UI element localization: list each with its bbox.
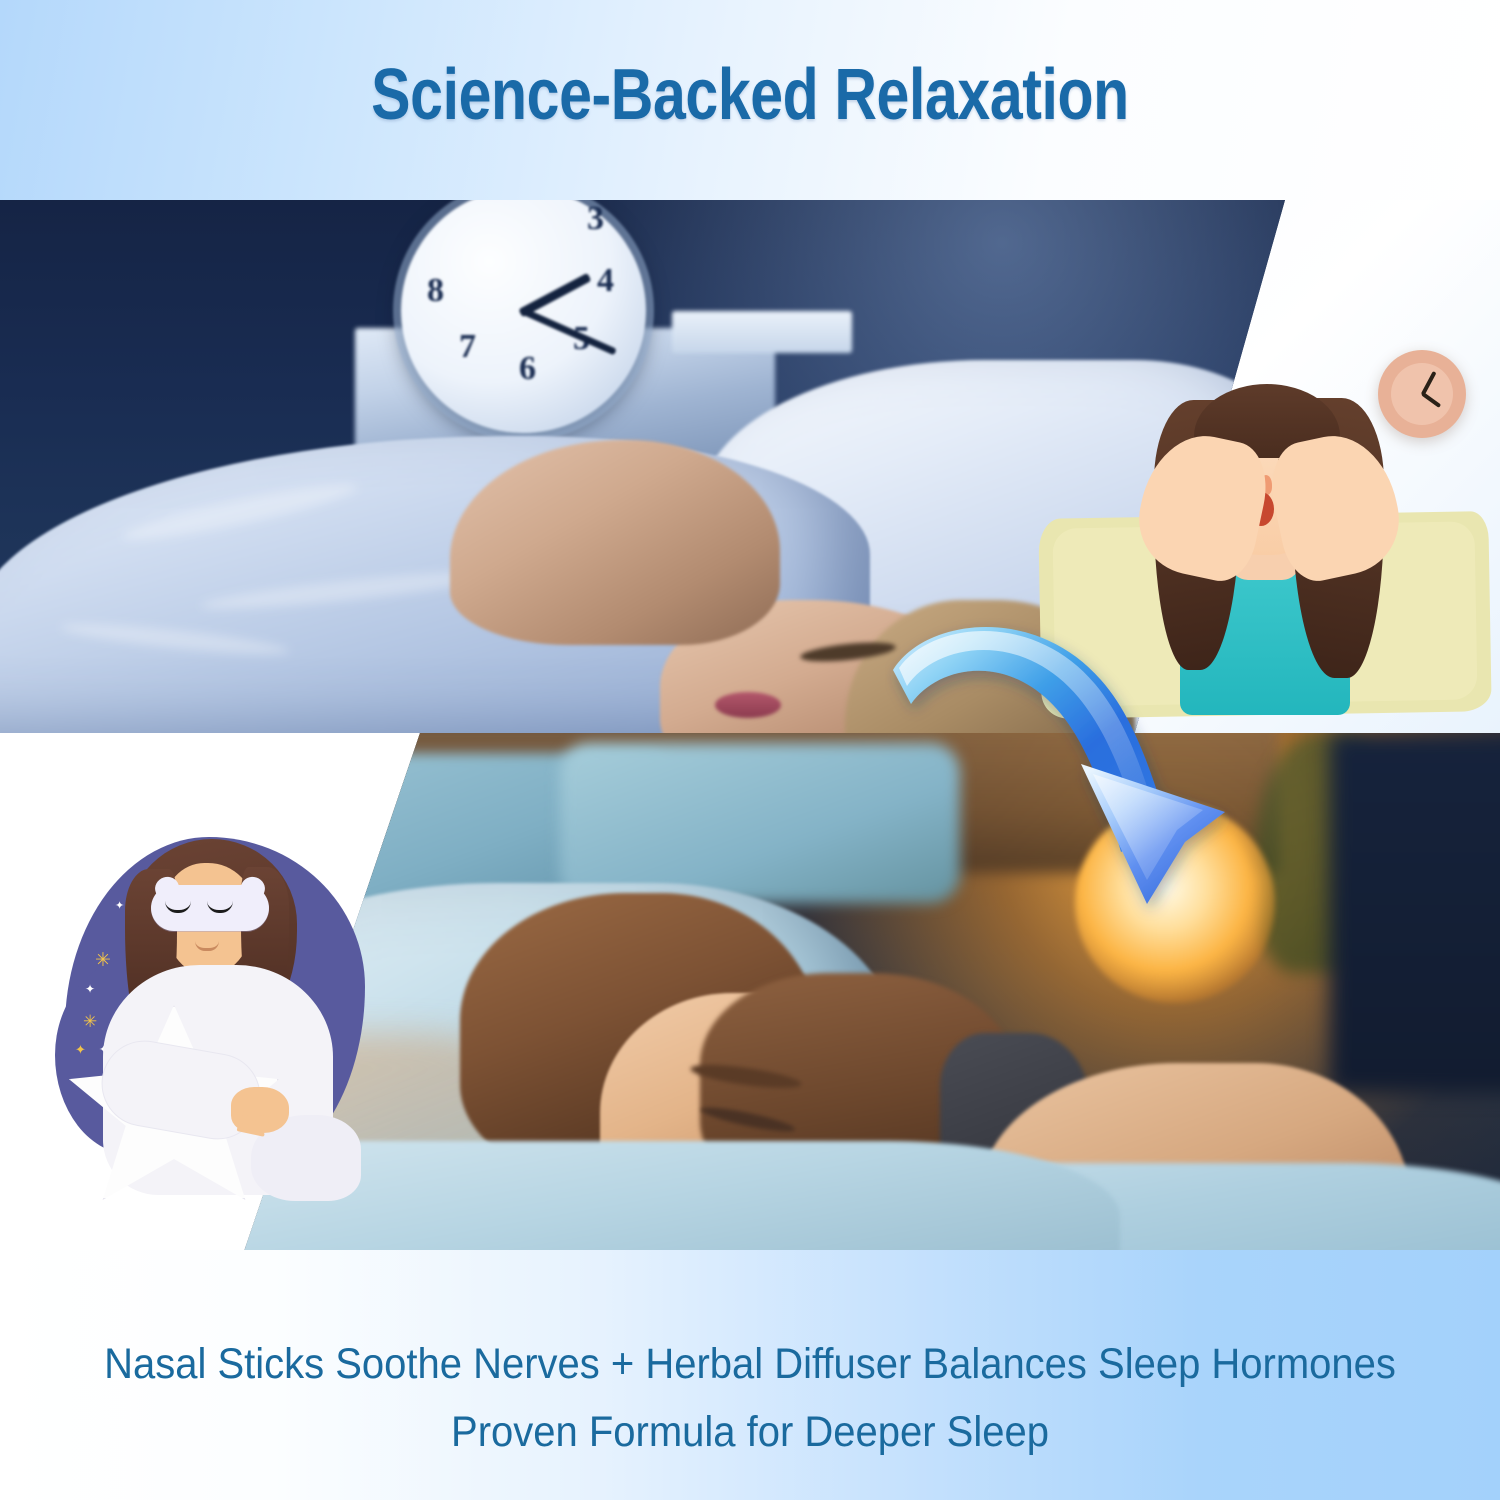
- bedside-lamp-glow: [1075, 803, 1275, 1003]
- problem-panel: 3 4 5 6 7 8: [0, 200, 1500, 733]
- alarm-clock-icon: [1378, 350, 1466, 438]
- stressed-woman-illustration: [1030, 340, 1500, 733]
- caption-line-2: Proven Formula for Deeper Sleep: [53, 1398, 1448, 1466]
- calm-sleeper-illustration: ✦ ✦ ✳ ✦ ✳ ✦ ✦ ✳ ✳ ✦ ✦ ✳ ✦: [55, 815, 375, 1225]
- caption-line-1: Nasal Sticks Soothe Nerves + Herbal Diff…: [104, 1340, 1396, 1388]
- dark-corner: [1330, 733, 1500, 1093]
- back-pillow-right: [560, 743, 960, 903]
- page-title: Science-Backed Relaxation: [135, 54, 1365, 136]
- calm-hand: [231, 1087, 289, 1133]
- caption: Nasal Sticks Soothe Nerves + Herbal Diff…: [53, 1330, 1448, 1466]
- nightstand-book: [672, 311, 852, 353]
- product-infographic: Science-Backed Relaxation 3 4 5 6 7 8: [0, 0, 1500, 1500]
- lips: [715, 692, 781, 718]
